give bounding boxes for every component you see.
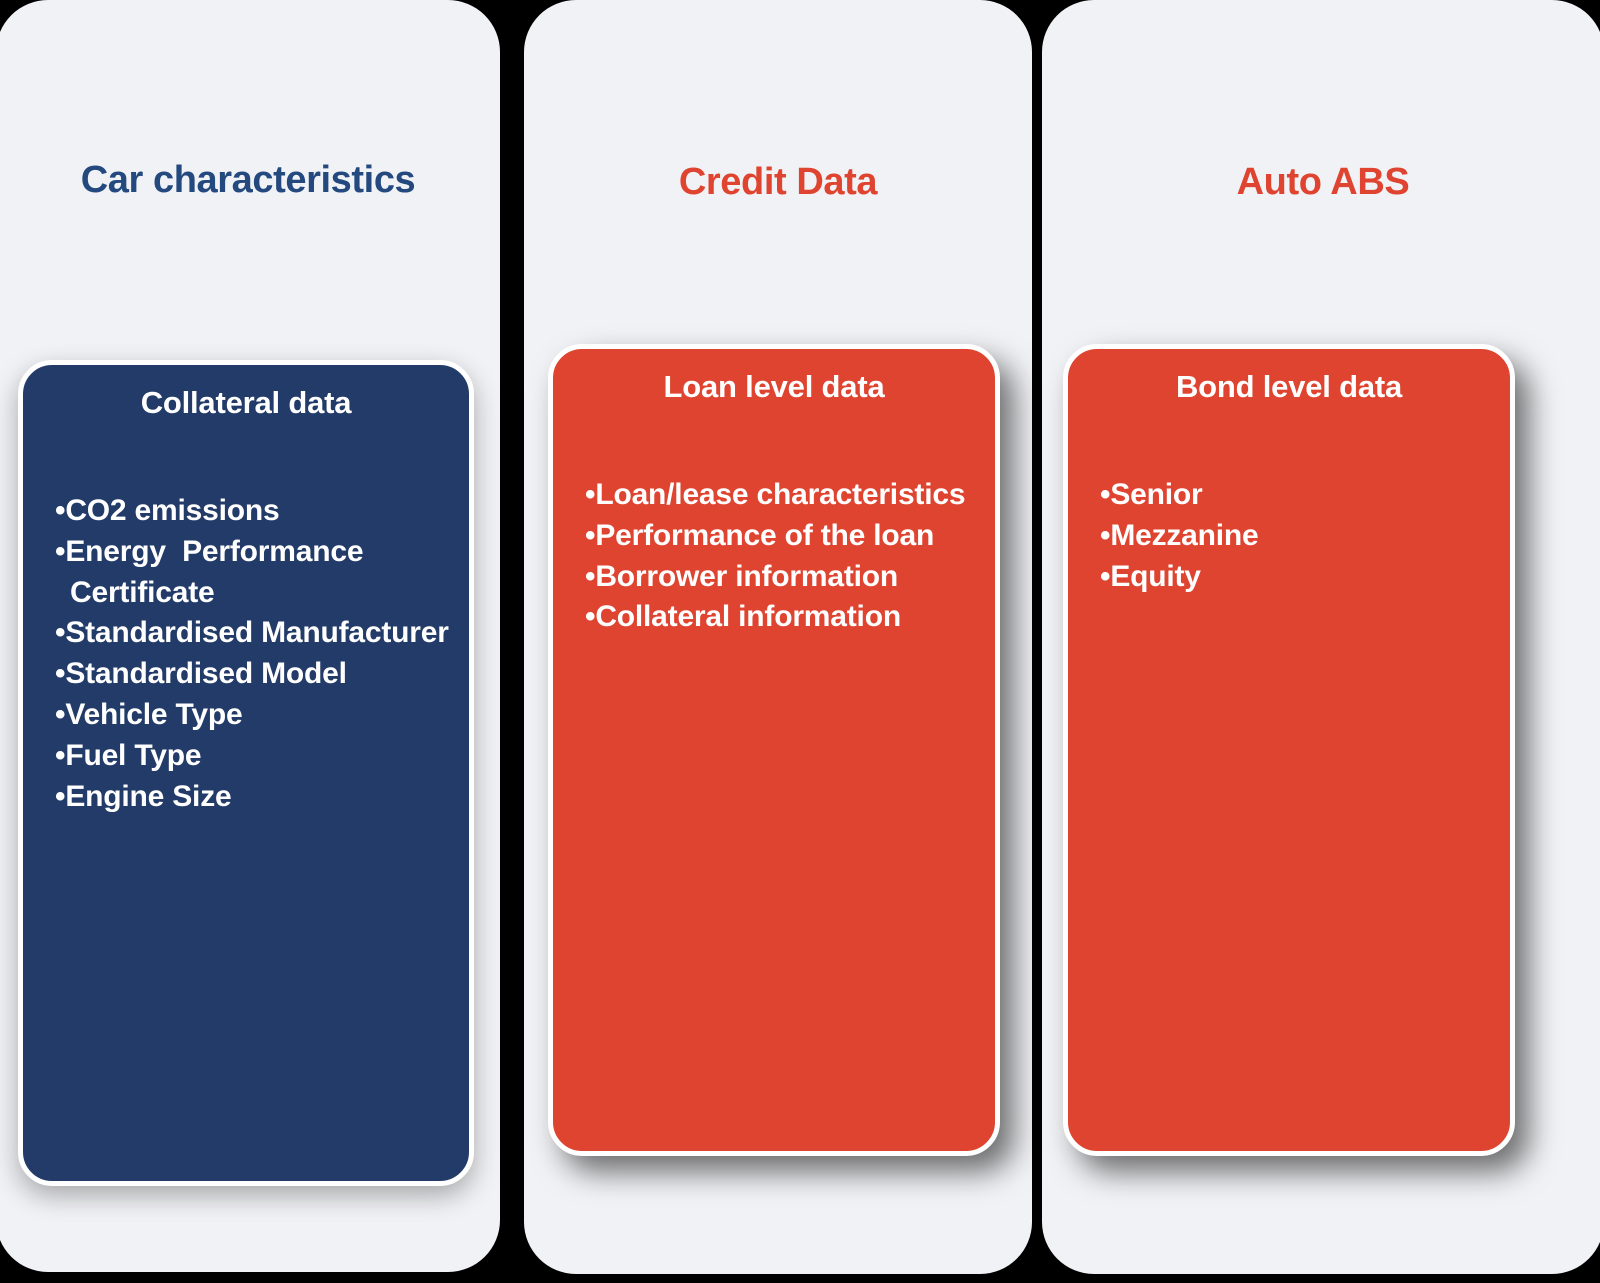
list-item: •Engine Size	[55, 777, 451, 818]
list-item: •Standardised Manufacturer	[55, 613, 451, 654]
bullet-icon: •	[585, 519, 595, 552]
list-item: •Senior	[1100, 475, 1492, 516]
list-item-label: Mezzanine	[1110, 519, 1258, 552]
list-item: •Equity	[1100, 557, 1492, 598]
card-heading-collateral-data: Collateral data	[23, 385, 469, 421]
bullet-icon: •	[55, 739, 65, 772]
list-item-label: Senior	[1110, 478, 1202, 511]
list-item: •CO2 emissions	[55, 491, 451, 532]
card-collateral-data: Collateral data •CO2 emissions •Energy P…	[18, 360, 474, 1186]
bullet-icon: •	[585, 600, 595, 633]
list-item: •Vehicle Type	[55, 695, 451, 736]
card-bond-level-data: Bond level data •Senior •Mezzanine •Equi…	[1063, 344, 1515, 1156]
bullet-icon: •	[55, 494, 65, 527]
bullet-list-bond-level-data: •Senior •Mezzanine •Equity	[1100, 475, 1492, 597]
list-item: •Energy Performance Certificate	[55, 532, 451, 614]
bullet-icon: •	[1100, 560, 1110, 593]
card-heading-loan-level-data: Loan level data	[553, 369, 995, 405]
list-item: •Mezzanine	[1100, 516, 1492, 557]
panel-credit-data: Credit Data Loan level data •Loan/lease …	[524, 0, 1032, 1274]
list-item: •Borrower information	[585, 557, 977, 598]
list-item-label: Standardised Model	[65, 657, 346, 690]
bullet-icon: •	[1100, 478, 1110, 511]
bullet-list-loan-level-data: •Loan/lease characteristics •Performance…	[585, 475, 977, 638]
list-item-label: Energy Performance Certificate	[65, 535, 371, 609]
list-item: •Standardised Model	[55, 654, 451, 695]
list-item-label: Performance of the loan	[595, 519, 934, 552]
panel-title-auto-abs: Auto ABS	[1042, 162, 1600, 204]
list-item-label: Vehicle Type	[65, 698, 242, 731]
bullet-list-collateral-data: •CO2 emissions •Energy Performance Certi…	[55, 491, 451, 817]
list-item-label: Standardised Manufacturer	[65, 616, 448, 649]
list-item-label: Loan/lease characteristics	[595, 478, 965, 511]
panel-title-credit-data: Credit Data	[524, 162, 1032, 204]
panel-title-car-characteristics: Car characteristics	[0, 160, 500, 202]
list-item-label: Fuel Type	[65, 739, 201, 772]
list-item: •Collateral information	[585, 597, 977, 638]
list-item-label: Collateral information	[595, 600, 901, 633]
bullet-icon: •	[585, 560, 595, 593]
diagram-canvas: Car characteristics Collateral data •CO2…	[0, 0, 1600, 1283]
bullet-icon: •	[55, 535, 65, 568]
card-heading-bond-level-data: Bond level data	[1068, 369, 1510, 405]
bullet-icon: •	[55, 616, 65, 649]
bullet-icon: •	[55, 780, 65, 813]
card-loan-level-data: Loan level data •Loan/lease characterist…	[548, 344, 1000, 1156]
bullet-icon: •	[1100, 519, 1110, 552]
list-item: •Performance of the loan	[585, 516, 977, 557]
list-item-label: Borrower information	[595, 560, 898, 593]
list-item-label: Equity	[1110, 560, 1200, 593]
panel-auto-abs: Auto ABS Bond level data •Senior •Mezzan…	[1042, 0, 1600, 1274]
list-item-label: Engine Size	[65, 780, 231, 813]
bullet-icon: •	[55, 657, 65, 690]
list-item-label: CO2 emissions	[65, 494, 279, 527]
list-item: •Loan/lease characteristics	[585, 475, 977, 516]
panel-car-characteristics: Car characteristics Collateral data •CO2…	[0, 0, 500, 1272]
bullet-icon: •	[585, 478, 595, 511]
list-item: •Fuel Type	[55, 736, 451, 777]
bullet-icon: •	[55, 698, 65, 731]
